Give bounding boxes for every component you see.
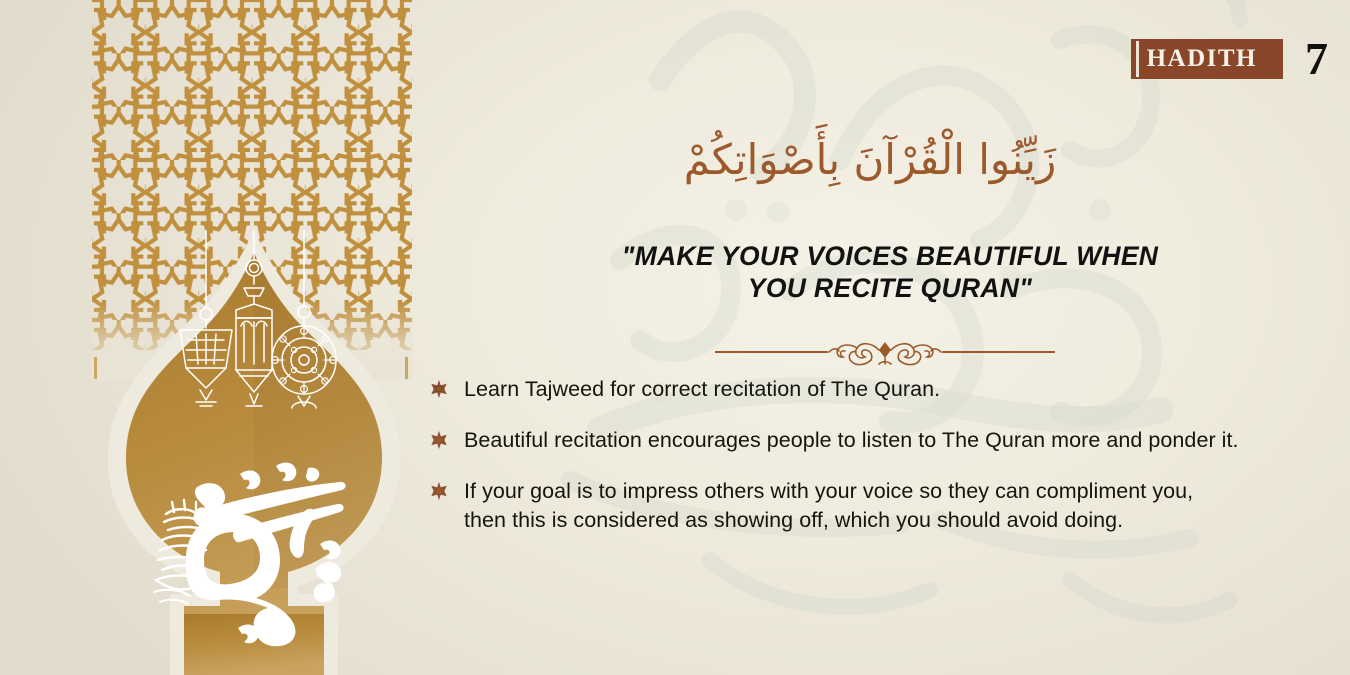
translation-line-2: YOU RECITE QURAN" (540, 272, 1240, 304)
list-item: If your goal is to impress others with y… (430, 477, 1280, 535)
list-item-text: If your goal is to impress others with y… (464, 477, 1209, 535)
list-item-text: Beautiful recitation encourages people t… (464, 426, 1264, 455)
left-tick-mark (94, 357, 97, 379)
hadith-translation: "MAKE YOUR VOICES BEAUTIFUL WHEN YOU REC… (540, 240, 1240, 305)
eight-point-star-icon (430, 431, 448, 449)
main-content: زَيِّنُوا الْقُرْآنَ بِأَصْوَاتِكُمْ "MA… (420, 0, 1350, 675)
list-item: Learn Tajweed for correct recitation of … (430, 375, 1280, 404)
muhammad-calligraphy-icon (140, 452, 370, 652)
eight-point-star-icon (430, 380, 448, 398)
arabic-hadith-text: زَيِّنُوا الْقُرْآنَ بِأَصْوَاتِكُمْ (420, 128, 1320, 191)
hanging-lanterns-icon (108, 230, 400, 430)
list-item-text: Learn Tajweed for correct recitation of … (464, 375, 1084, 404)
list-item: Beautiful recitation encourages people t… (430, 426, 1280, 455)
right-tick-mark (405, 357, 408, 379)
left-decorative-panel (0, 0, 420, 675)
hadith-slide: HADITH 7 زَيِّنُوا الْقُرْآنَ بِأَصْوَات… (0, 0, 1350, 675)
ornamental-flourish-divider (715, 334, 1055, 368)
eight-point-star-icon (430, 482, 448, 500)
bullet-list: Learn Tajweed for correct recitation of … (430, 375, 1280, 557)
translation-line-1: "MAKE YOUR VOICES BEAUTIFUL WHEN (540, 240, 1240, 272)
